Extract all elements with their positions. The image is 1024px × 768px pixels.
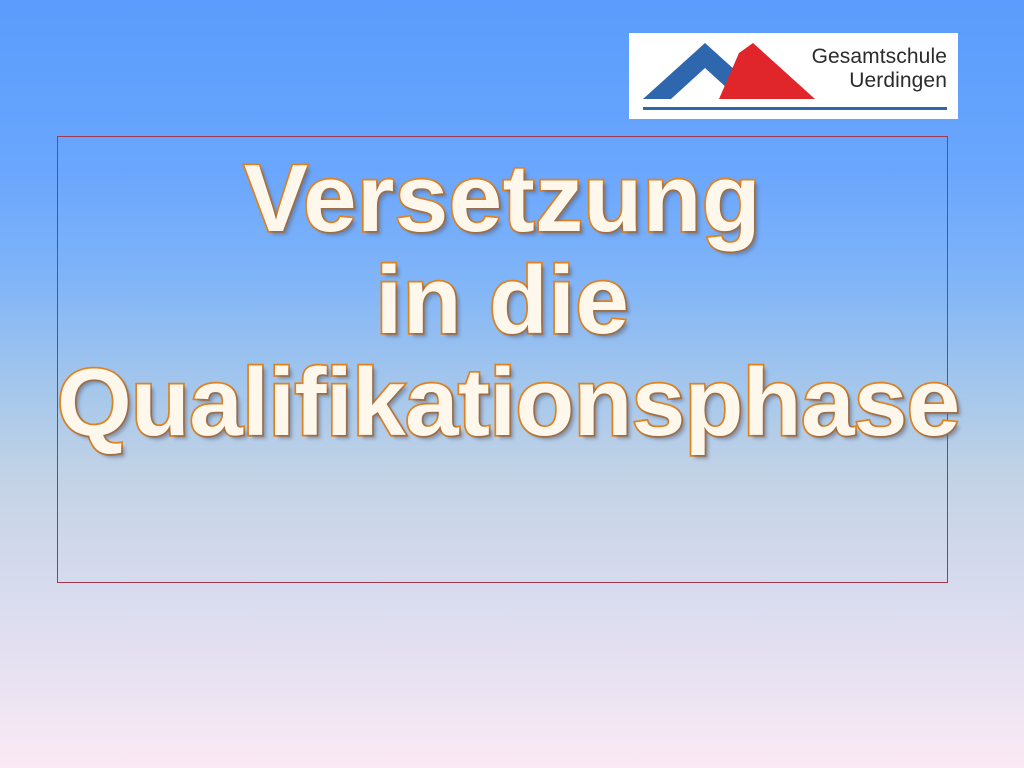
school-name-line-2: Uerdingen [812, 69, 947, 93]
school-name-line-1: Gesamtschule [812, 45, 947, 69]
school-logo-text: Gesamtschule Uerdingen [812, 45, 947, 92]
mountain-roof-logo-icon [643, 39, 829, 101]
presentation-slide: Gesamtschule Uerdingen Versetzung in die… [0, 0, 1024, 768]
school-logo-inner: Gesamtschule Uerdingen [629, 33, 958, 119]
content-frame [57, 136, 948, 583]
logo-underline-rule [643, 107, 947, 110]
school-logo: Gesamtschule Uerdingen [629, 33, 958, 119]
